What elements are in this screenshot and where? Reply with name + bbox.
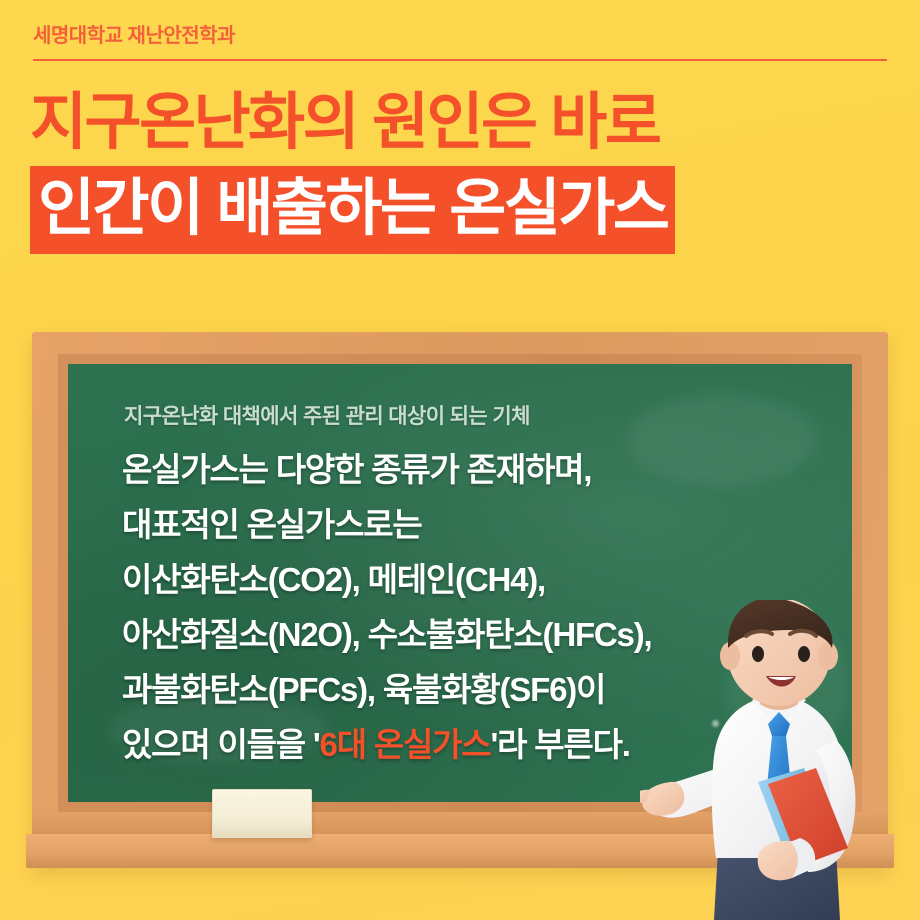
chalk-eraser-icon	[212, 789, 312, 838]
headline-line-1: 지구온난화의 원인은 바로	[30, 92, 890, 154]
card-news-canvas: 세명대학교 재난안전학과 지구온난화의 원인은 바로 인간이 배출하는 온실가스…	[0, 0, 920, 920]
board-eyebrow: 지구온난화 대책에서 주된 관리 대상이 되는 기체	[124, 400, 530, 430]
board-line: 이산화탄소(CO2), 메테인(CH4),	[122, 552, 832, 607]
board-line: 대표적인 온실가스로는	[122, 497, 832, 552]
board-final-after: '라 부른다.	[490, 726, 629, 763]
board-line: 온실가스는 다양한 종류가 존재하며,	[122, 442, 832, 497]
department-kicker: 세명대학교 재난안전학과	[33, 24, 887, 48]
board-final-highlight: 6대 온실가스	[320, 726, 491, 763]
board-line: 아산화질소(N2O), 수소불화탄소(HFCs),	[122, 607, 832, 662]
board-final-before: 있으며 이들을 '	[122, 726, 320, 763]
chalkboard-ledge	[26, 834, 894, 868]
headline-line-2: 인간이 배출하는 온실가스	[30, 166, 675, 254]
chalkboard-frame: 지구온난화 대책에서 주된 관리 대상이 되는 기체 온실가스는 다양한 종류가…	[58, 354, 862, 812]
chalkboard-surface: 지구온난화 대책에서 주된 관리 대상이 되는 기체 온실가스는 다양한 종류가…	[68, 364, 852, 802]
board-line-final: 있으며 이들을 '6대 온실가스'라 부른다.	[122, 717, 832, 772]
board-line: 과불화탄소(PFCs), 육불화황(SF6)이	[122, 662, 832, 717]
header: 세명대학교 재난안전학과	[33, 24, 887, 61]
headline-line-2-row: 인간이 배출하는 온실가스	[30, 166, 675, 254]
chalkboard: 지구온난화 대책에서 주된 관리 대상이 되는 기체 온실가스는 다양한 종류가…	[32, 332, 888, 868]
chalkboard-ledge-top	[32, 812, 888, 834]
board-body: 온실가스는 다양한 종류가 존재하며, 대표적인 온실가스로는 이산화탄소(CO…	[122, 442, 832, 772]
header-divider	[33, 59, 887, 61]
headline-block: 지구온난화의 원인은 바로 인간이 배출하는 온실가스	[30, 92, 890, 254]
